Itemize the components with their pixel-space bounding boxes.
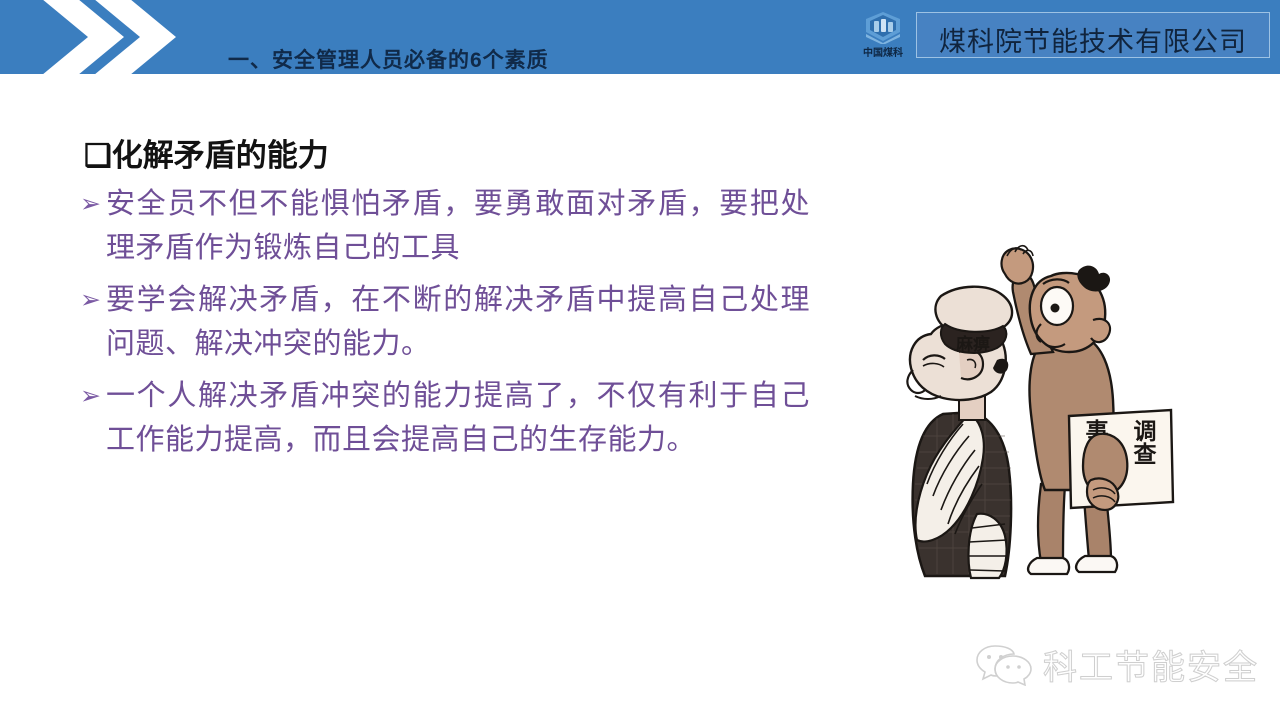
watermark: 科工节能安全	[975, 636, 1255, 692]
list-item-text: 安全员不但不能惧怕矛盾，要勇敢面对矛盾，要把处理矛盾作为锻炼自己的工具	[106, 182, 810, 270]
cartoon-head-label: 麻痹	[955, 334, 990, 354]
bullet-list: ➢ 安全员不但不能惧怕矛盾，要勇敢面对矛盾，要把处理矛盾作为锻炼自己的工具 ➢ …	[80, 182, 810, 470]
logo-text: 中国煤科	[852, 44, 914, 59]
header-band: 一、安全管理人员必备的6个素质 中国煤科 煤科院节能技术有限公司	[0, 0, 1280, 74]
chevron-double-right-icon	[26, 0, 176, 74]
list-item: ➢ 安全员不但不能惧怕矛盾，要勇敢面对矛盾，要把处理矛盾作为锻炼自己的工具	[80, 182, 810, 270]
slide: 一、安全管理人员必备的6个素质 中国煤科 煤科院节能技术有限公司 ❑化解矛盾的能…	[0, 0, 1280, 720]
watermark-text: 科工节能安全	[1043, 640, 1259, 689]
company-name: 煤科院节能技术有限公司	[917, 20, 1269, 59]
wechat-icon	[975, 642, 1033, 686]
list-item-text: 要学会解决矛盾，在不断的解决矛盾中提高自己处理问题、解决冲突的能力。	[106, 278, 810, 366]
accident-investigation-cartoon: 麻痹	[855, 184, 1185, 584]
coal-emblem-icon	[860, 10, 906, 44]
page-title: 一、安全管理人员必备的6个素质	[228, 44, 549, 74]
arrow-bullet-icon: ➢	[80, 374, 106, 418]
company-name-box: 煤科院节能技术有限公司	[916, 12, 1270, 58]
list-item: ➢ 一个人解决矛盾冲突的能力提高了，不仅有利于自己工作能力提高，而且会提高自己的…	[80, 374, 810, 462]
company-logo: 中国煤科	[852, 8, 914, 66]
arrow-bullet-icon: ➢	[80, 278, 106, 322]
list-item-text: 一个人解决矛盾冲突的能力提高了，不仅有利于自己工作能力提高，而且会提高自己的生存…	[106, 374, 810, 462]
arrow-bullet-icon: ➢	[80, 182, 106, 226]
section-heading: ❑化解矛盾的能力	[84, 130, 329, 175]
svg-text:调查: 调查	[1130, 419, 1157, 465]
slide-content: ❑化解矛盾的能力 ➢ 安全员不但不能惧怕矛盾，要勇敢面对矛盾，要把处理矛盾作为锻…	[0, 74, 1280, 720]
list-item: ➢ 要学会解决矛盾，在不断的解决矛盾中提高自己处理问题、解决冲突的能力。	[80, 278, 810, 366]
